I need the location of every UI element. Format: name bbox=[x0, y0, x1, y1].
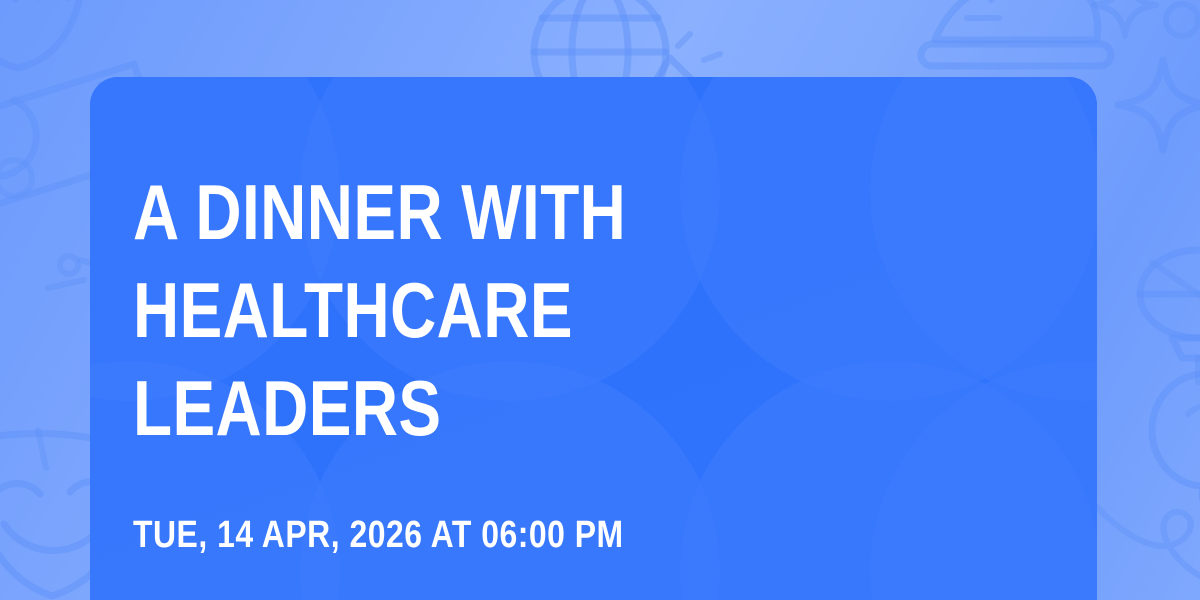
sparkle-star-icon bbox=[1080, 0, 1170, 50]
balloon-icon bbox=[1130, 370, 1200, 550]
event-date-time: Tue, 14 Apr, 2026 at 06:00 PM bbox=[133, 513, 909, 557]
event-card-content: A Dinner with Healthcare Leaders Tue, 14… bbox=[133, 77, 1057, 600]
sparkle-star-icon bbox=[1108, 50, 1200, 160]
streamer-swirl-icon bbox=[1090, 470, 1200, 600]
confetti-dot-icon bbox=[1152, 0, 1200, 50]
lantern-icon bbox=[1128, 232, 1200, 402]
event-title: A Dinner with Healthcare Leaders bbox=[133, 163, 781, 457]
confetti-dot-icon bbox=[44, 240, 94, 290]
event-card: A Dinner with Healthcare Leaders Tue, 14… bbox=[90, 77, 1097, 600]
event-banner: A Dinner with Healthcare Leaders Tue, 14… bbox=[0, 0, 1200, 600]
